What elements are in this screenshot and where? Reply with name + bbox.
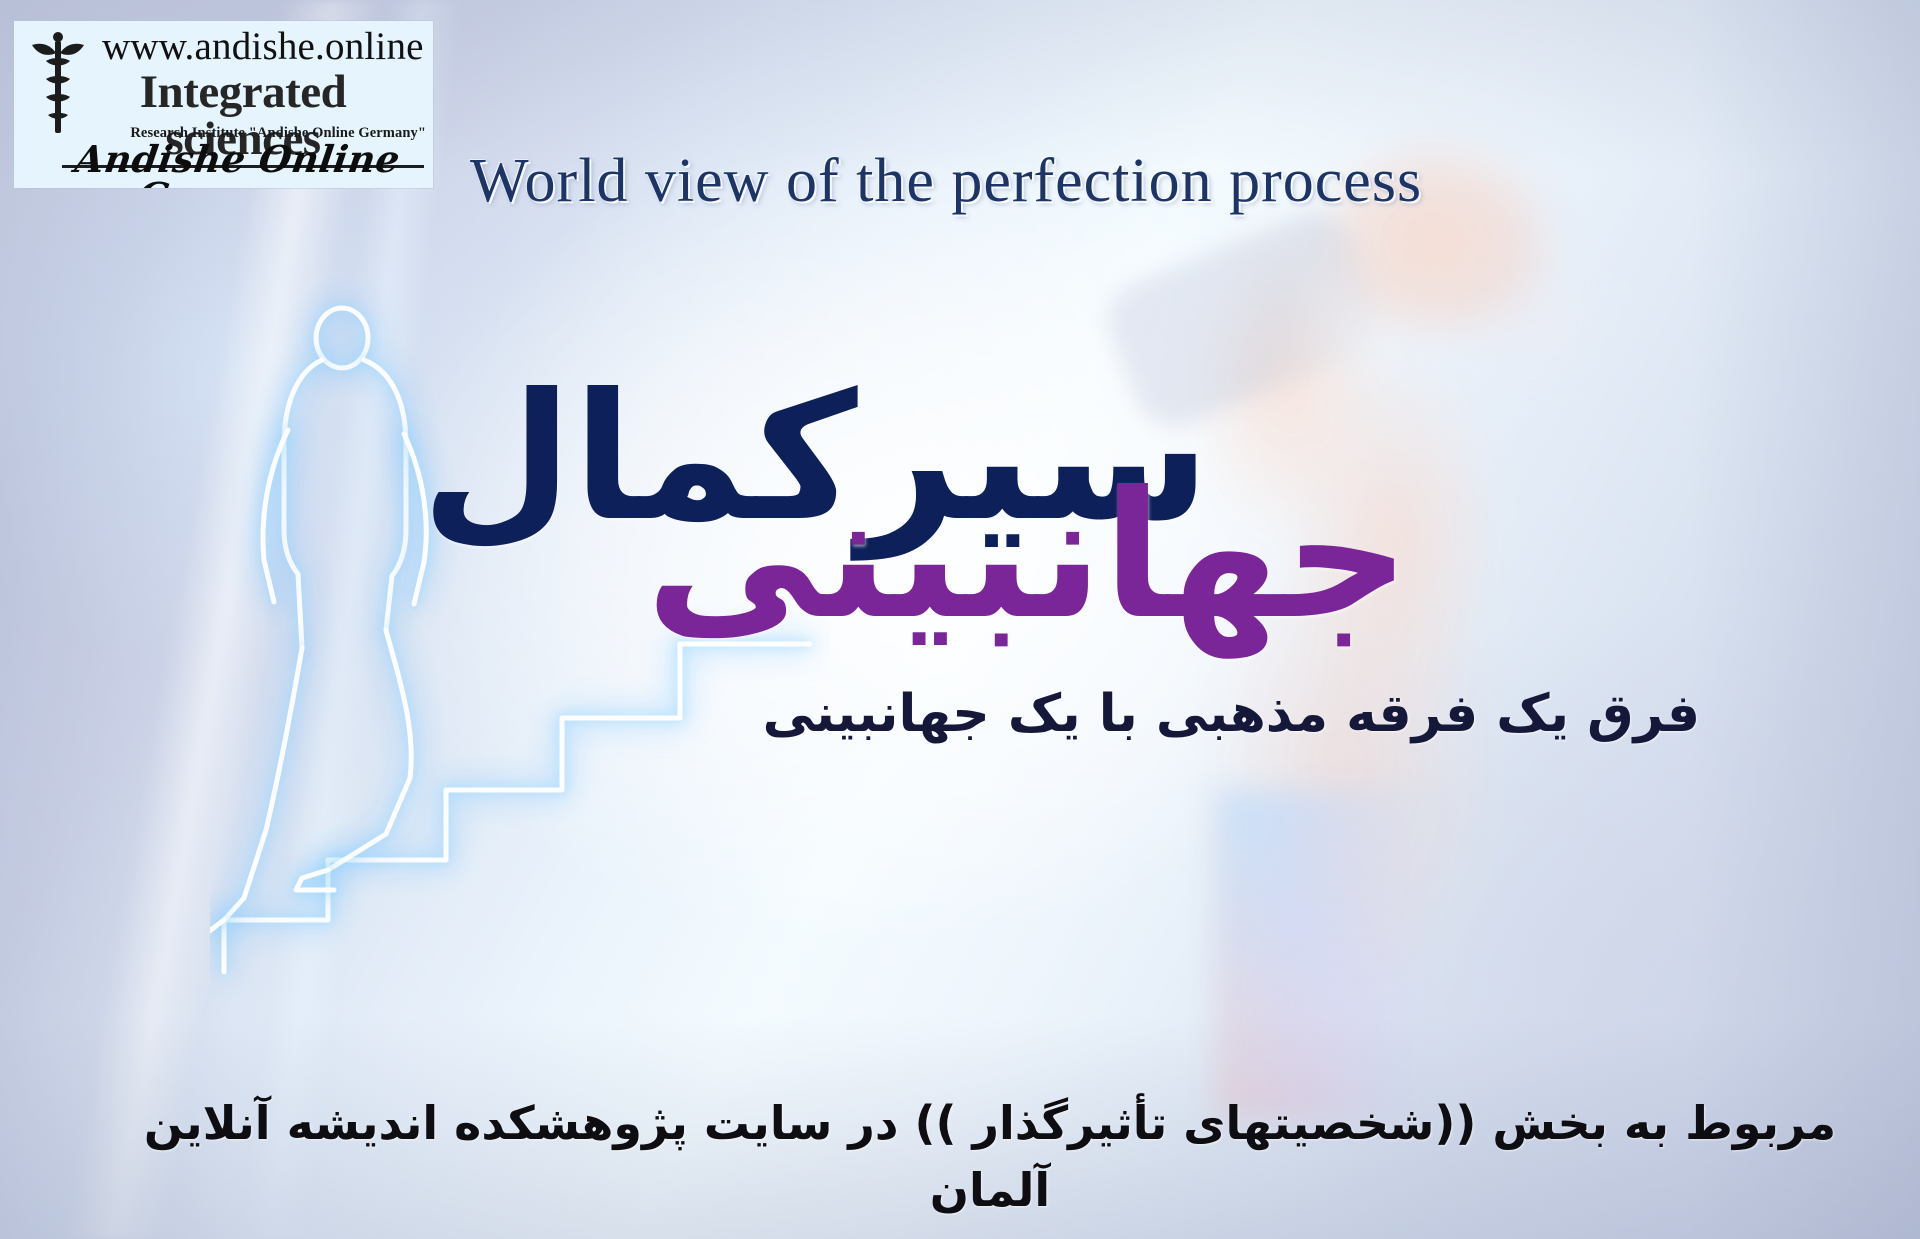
poster-root: www.andishe.online Integrated sciences R…: [0, 0, 1920, 1239]
logo-script-name: Andishe Online Germany: [35, 141, 433, 188]
persian-subheadline: فرق یک فرقه مذهبی با یک جهانبینی: [300, 682, 1700, 747]
persian-headline-line2: جهانبینی: [646, 468, 1410, 647]
logo-card: www.andishe.online Integrated sciences R…: [14, 21, 433, 188]
persian-bottom-caption: مربوط به بخش ((شخصیتهای تأثیرگذار )) در …: [120, 1090, 1860, 1223]
english-title: World view of the perfection process: [470, 146, 1570, 217]
logo-website-url[interactable]: www.andishe.online: [102, 27, 424, 66]
persian-headline: سیرکمال جهانبینی: [190, 370, 1410, 670]
persian-headline-stack: سیرکمال جهانبینی: [190, 370, 1410, 670]
